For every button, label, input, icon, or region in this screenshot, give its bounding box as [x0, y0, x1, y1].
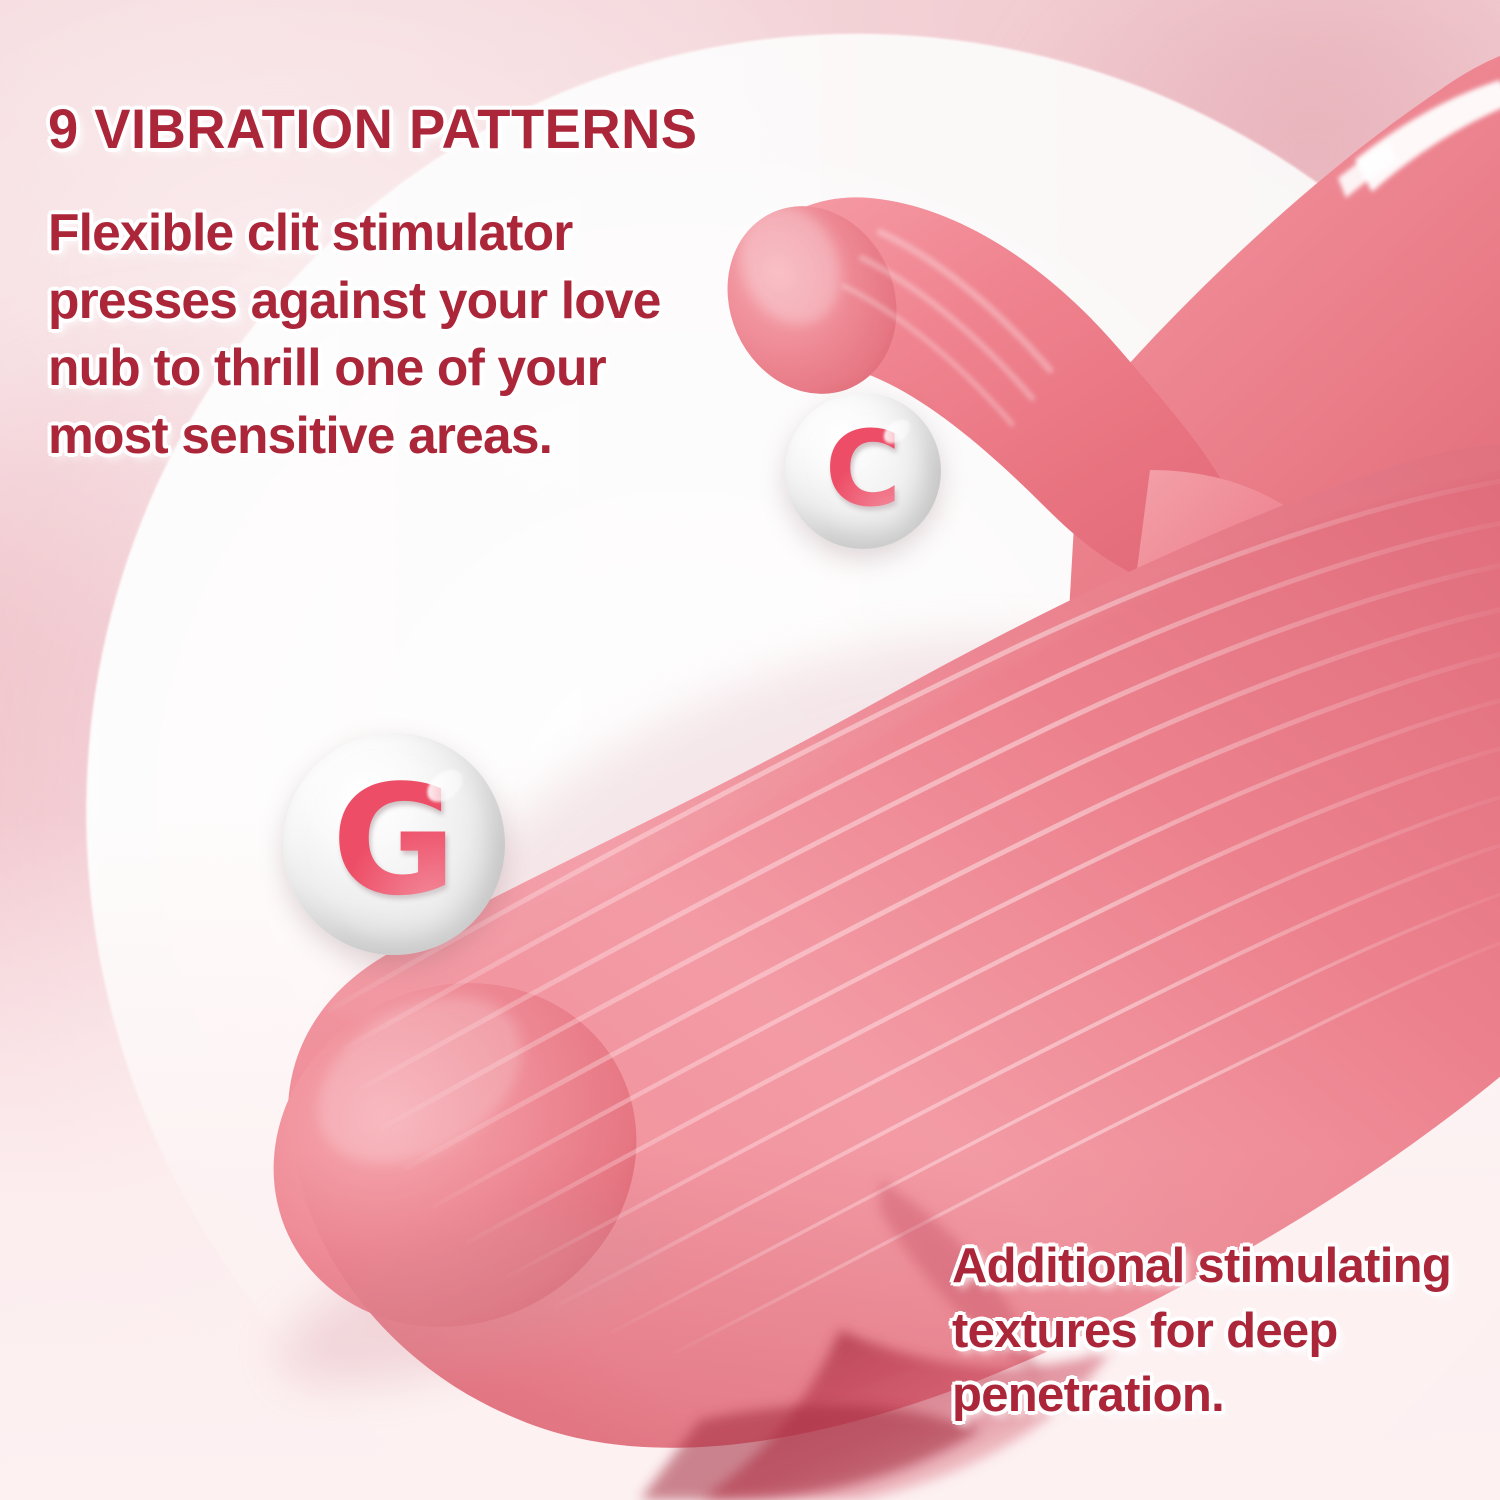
feature-description-primary: Flexible clit stimulator presses against…: [48, 200, 661, 470]
badge-g-rim: [283, 733, 505, 955]
badge-g-gspot-marker: G: [283, 733, 505, 955]
feature-description-secondary: Additional stimulating textures for deep…: [952, 1234, 1451, 1428]
badge-c-rim: [785, 393, 941, 549]
badge-c-clitoral-marker: C: [785, 393, 941, 549]
page-title: 9 VIBRATION PATTERNS: [48, 101, 698, 157]
product-feature-image: 9 VIBRATION PATTERNS Flexible clit stimu…: [0, 0, 1500, 1500]
